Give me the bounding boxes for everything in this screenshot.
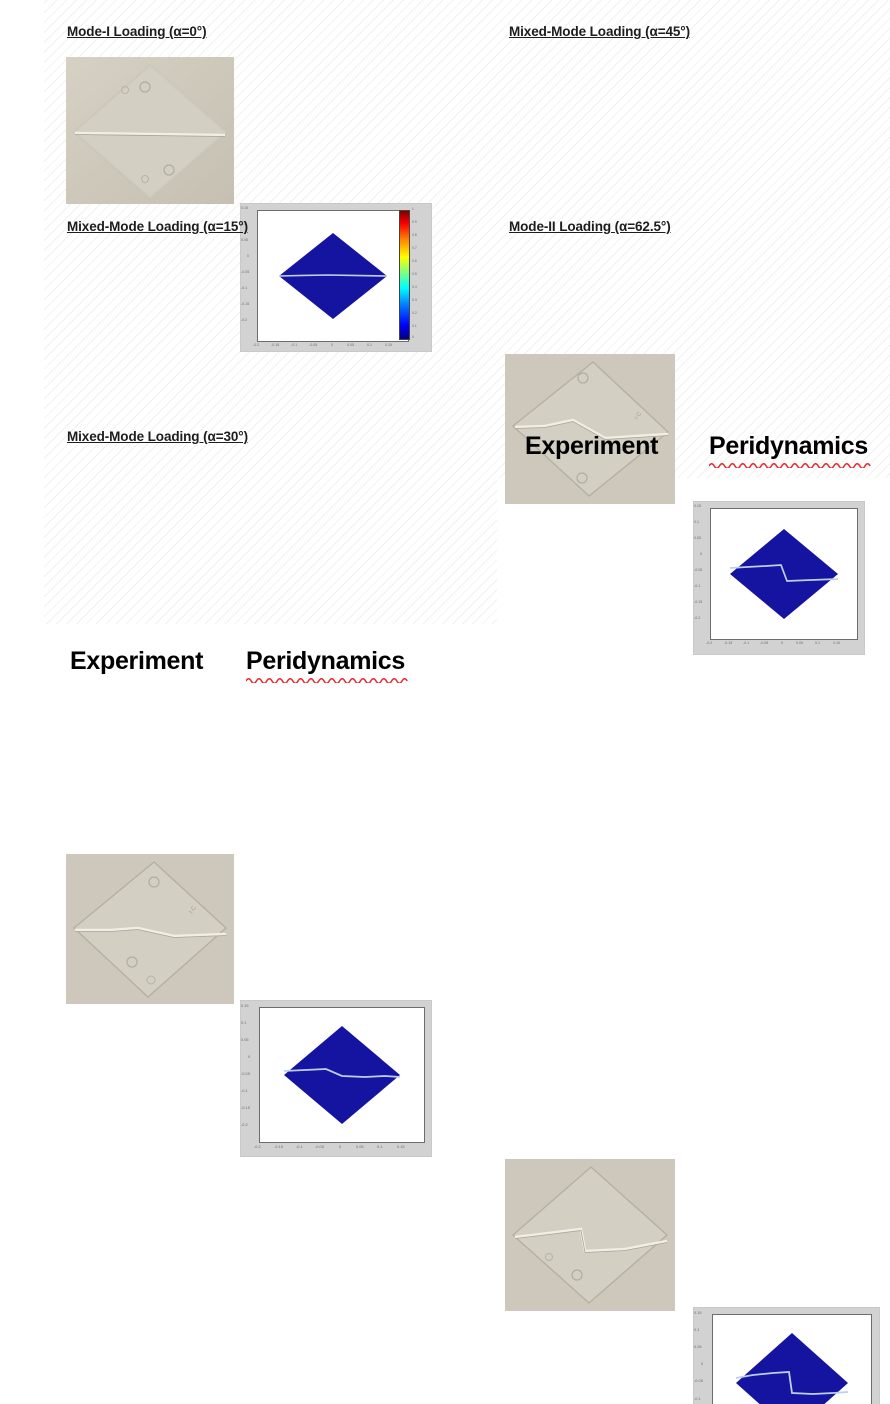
ytick-label: 0.15 — [694, 504, 701, 508]
ytick-label: -0.05 — [694, 1378, 703, 1383]
ytick-label: 0 — [247, 254, 249, 258]
ytick-label: -0.2 — [241, 1122, 248, 1127]
xtick-label: 0 — [781, 641, 783, 645]
spellcheck-squiggle-icon — [246, 676, 408, 683]
colorbar-tick-label: 0.7 — [412, 246, 417, 250]
ytick-label: -0.1 — [241, 286, 247, 290]
ytick-label: -0.05 — [694, 568, 702, 572]
colorbar-tick-label: 0.6 — [412, 259, 417, 263]
peridynamics-text-wrap: Peridynamics — [709, 432, 868, 461]
plot-axes-mixed-15 — [259, 1007, 425, 1143]
xtick-label: -0.2 — [254, 1144, 261, 1149]
xtick-label: -0.15 — [271, 343, 279, 347]
ytick-label: 0 — [701, 1361, 703, 1366]
xtick-label: -0.2 — [253, 343, 259, 347]
ytick-label: -0.1 — [241, 1088, 248, 1093]
xtick-label: 0.05 — [796, 641, 803, 645]
ytick-label: 0.05 — [241, 1037, 249, 1042]
ytick-label: -0.05 — [241, 1071, 250, 1076]
peridynamics-plot-mixed-15: 0.15 0.1 0.05 0 -0.05 -0.1 -0.15 -0.2 -0… — [241, 1001, 431, 1156]
specimen-photo-svg: I-C — [66, 854, 234, 1004]
ytick-label: -0.15 — [241, 302, 249, 306]
colorbar-tick-label: 0.4 — [412, 285, 417, 289]
xtick-label: -0.1 — [743, 641, 749, 645]
panel-title-mixed-45: Mixed-Mode Loading (α=45°) — [509, 24, 690, 39]
colorbar-tick-label: 1 — [412, 207, 414, 211]
ytick-label: 0.15 — [241, 206, 248, 210]
xtick-label: 0.1 — [367, 343, 372, 347]
xtick-label: -0.05 — [760, 641, 768, 645]
ytick-label: 0.1 — [694, 1327, 699, 1332]
xtick-label: 0 — [339, 1144, 341, 1149]
ytick-label: 0.15 — [241, 1003, 249, 1008]
panel-title-mixed-15: Mixed-Mode Loading (α=15°) — [67, 219, 248, 234]
ytick-label: -0.1 — [694, 1396, 701, 1401]
caption-experiment-right: Experiment — [525, 432, 658, 461]
background-margin-left — [0, 0, 44, 702]
specimen-photo-svg — [505, 1159, 675, 1311]
caption-peridynamics-left: Peridynamics — [246, 647, 405, 676]
xtick-label: 0 — [331, 343, 333, 347]
ytick-label: -0.2 — [694, 616, 700, 620]
xtick-label: -0.05 — [309, 343, 317, 347]
ytick-label: 0 — [700, 552, 702, 556]
caption-peridynamics-right: Peridynamics — [709, 432, 868, 461]
xtick-label: 0.15 — [833, 641, 840, 645]
experiment-photo-mixed-45: I-C I-C — [505, 354, 675, 504]
ytick-label: 0.05 — [694, 1344, 702, 1349]
xtick-label: -0.05 — [315, 1144, 324, 1149]
ytick-label: -0.05 — [241, 270, 249, 274]
peridynamics-text-wrap: Peridynamics — [246, 647, 405, 676]
spellcheck-squiggle-icon — [709, 461, 871, 468]
ytick-label: 0.1 — [241, 1020, 246, 1025]
xtick-label: -0.1 — [296, 1144, 303, 1149]
ytick-label: -0.2 — [241, 318, 247, 322]
experiment-photo-mode-ii — [505, 1159, 675, 1311]
ytick-label: 0.05 — [694, 536, 701, 540]
panel-title-mixed-30: Mixed-Mode Loading (α=30°) — [67, 429, 248, 444]
experiment-photo-mode-i — [66, 57, 234, 204]
plot-axes-mode-ii — [712, 1314, 872, 1404]
ytick-label: 0.05 — [241, 238, 248, 242]
ytick-label: 0.15 — [694, 1310, 702, 1315]
specimen-photo-svg: I-C I-C — [505, 354, 675, 504]
damage-field-mixed-45 — [711, 509, 857, 639]
caption-experiment-left: Experiment — [70, 647, 203, 676]
ytick-label: 0 — [248, 1054, 250, 1059]
ytick-label: -0.1 — [694, 584, 700, 588]
colorbar-tick-label: 0.1 — [412, 324, 417, 328]
xtick-label: -0.1 — [291, 343, 297, 347]
colorbar-tick-label: 0.3 — [412, 298, 417, 302]
damage-field-mixed-15 — [260, 1008, 424, 1142]
xtick-label: -0.15 — [274, 1144, 283, 1149]
xtick-label: 0.05 — [356, 1144, 364, 1149]
colorbar-gradient — [399, 210, 410, 340]
ytick-label: -0.15 — [241, 1105, 250, 1110]
xtick-label: -0.2 — [706, 641, 712, 645]
peridynamics-plot-mixed-45: 0.15 0.1 0.05 0 -0.05 -0.1 -0.15 -0.2 -0… — [694, 502, 864, 654]
plot-axes-mode-i — [257, 210, 409, 342]
colorbar-tick-label: 0.2 — [412, 311, 417, 315]
specimen-photo-svg — [66, 57, 234, 204]
xtick-label: 0.15 — [385, 343, 392, 347]
xtick-label: -0.15 — [724, 641, 732, 645]
xtick-label: 0.15 — [397, 1144, 405, 1149]
colorbar-tick-label: 0.8 — [412, 233, 417, 237]
peridynamics-plot-mode-ii: 0.15 0.1 0.05 0 -0.05 -0.1 -0.15 -0.2 -0… — [694, 1308, 879, 1404]
damage-field-mode-ii — [713, 1315, 871, 1404]
experiment-photo-mixed-15: I-C — [66, 854, 234, 1004]
xtick-label: 0.1 — [377, 1144, 382, 1149]
xtick-label: 0.05 — [347, 343, 354, 347]
plot-axes-mixed-45 — [710, 508, 858, 640]
colorbar-tick-label: 0 — [412, 335, 414, 339]
panel-title-mode-i: Mode-I Loading (α=0°) — [67, 24, 206, 39]
colorbar-mode-i — [399, 210, 410, 340]
xtick-label: 0.1 — [815, 641, 820, 645]
panel-title-mode-ii: Mode-II Loading (α=62.5°) — [509, 219, 671, 234]
ytick-label: -0.15 — [694, 600, 702, 604]
colorbar-tick-label: 0.5 — [412, 272, 417, 276]
colorbar-tick-label: 0.9 — [412, 220, 417, 224]
peridynamics-plot-mode-i: 0.15 0.1 0.05 0 -0.05 -0.1 -0.15 -0.2 -0… — [241, 204, 431, 351]
ytick-label: 0.1 — [694, 520, 699, 524]
damage-field-mode-i — [258, 211, 408, 341]
